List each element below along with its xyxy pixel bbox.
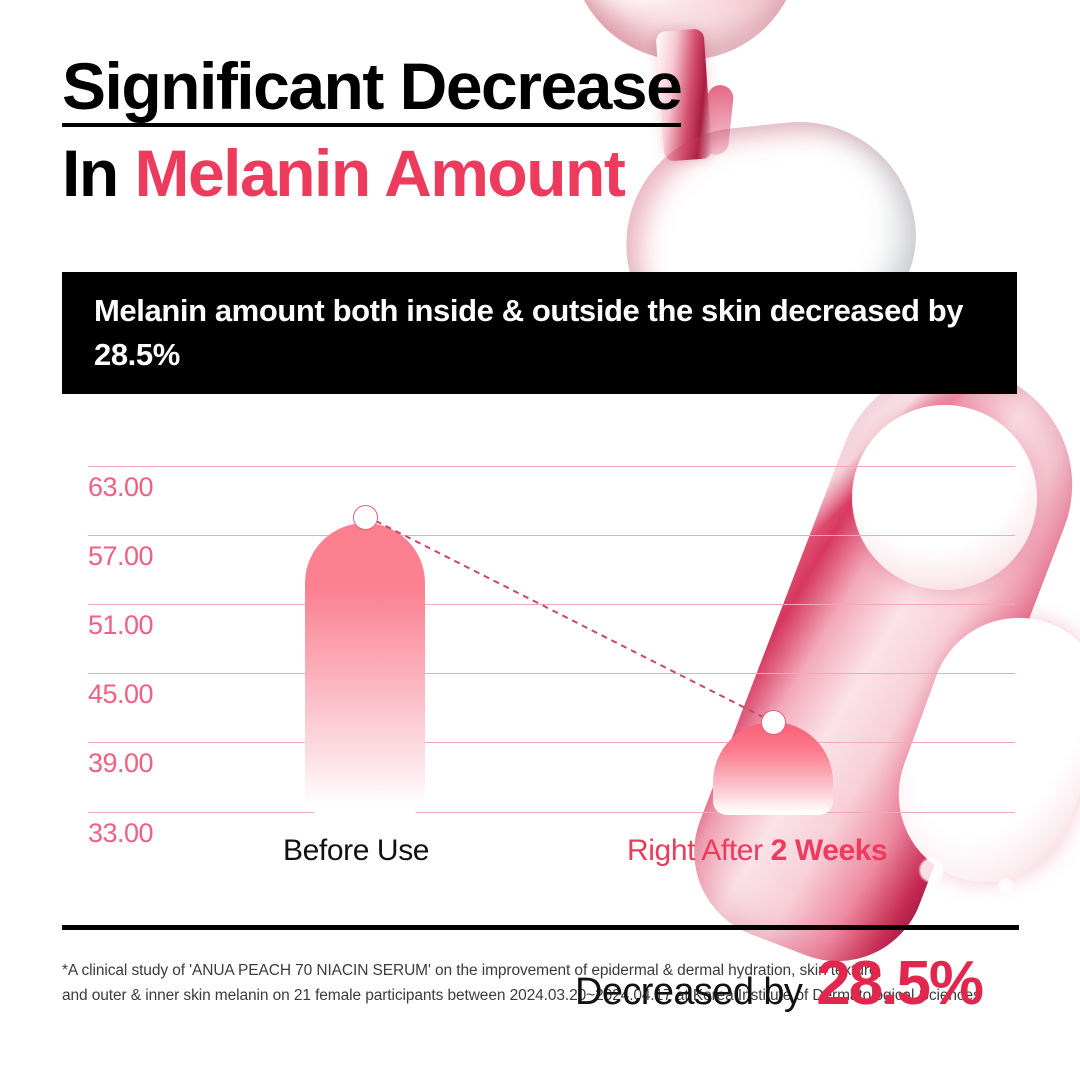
decrease-callout-label: Decreased by [575, 971, 802, 1014]
data-point-marker-right-after-2-weeks [761, 710, 786, 735]
footer-divider [62, 925, 1019, 930]
summary-banner-text: Melanin amount both inside & outside the… [62, 289, 1017, 377]
decrease-callout: Decreased by 28.5% [575, 948, 982, 1019]
x-axis-label-right-after-2-weeks: Right After 2 Weeks [627, 834, 887, 868]
trend-dashed-line [0, 400, 1080, 900]
x-axis-label-before-use-text: Before Use [283, 834, 429, 867]
x-axis-label-after-bold: 2 Weeks [771, 834, 888, 867]
infographic-root: Significant Decrease In Melanin Amount M… [0, 0, 1080, 1080]
headline-line-2-prefix: In [62, 136, 135, 210]
x-axis-label-after-plain: Right After [627, 834, 771, 867]
headline-line-1: Significant Decrease [62, 52, 681, 127]
summary-banner: Melanin amount both inside & outside the… [62, 272, 1017, 394]
data-point-marker-before-use [353, 505, 378, 530]
headline-line-2: In Melanin Amount [62, 139, 762, 208]
melanin-bar-chart: 63.00 57.00 51.00 45.00 39.00 33.00 Decr… [0, 400, 1080, 900]
x-axis-label-before-use: Before Use [283, 834, 429, 868]
headline-block: Significant Decrease In Melanin Amount [62, 52, 762, 207]
headline-line-2-accent: Melanin Amount [135, 136, 625, 210]
decrease-callout-value: 28.5% [816, 948, 982, 1019]
